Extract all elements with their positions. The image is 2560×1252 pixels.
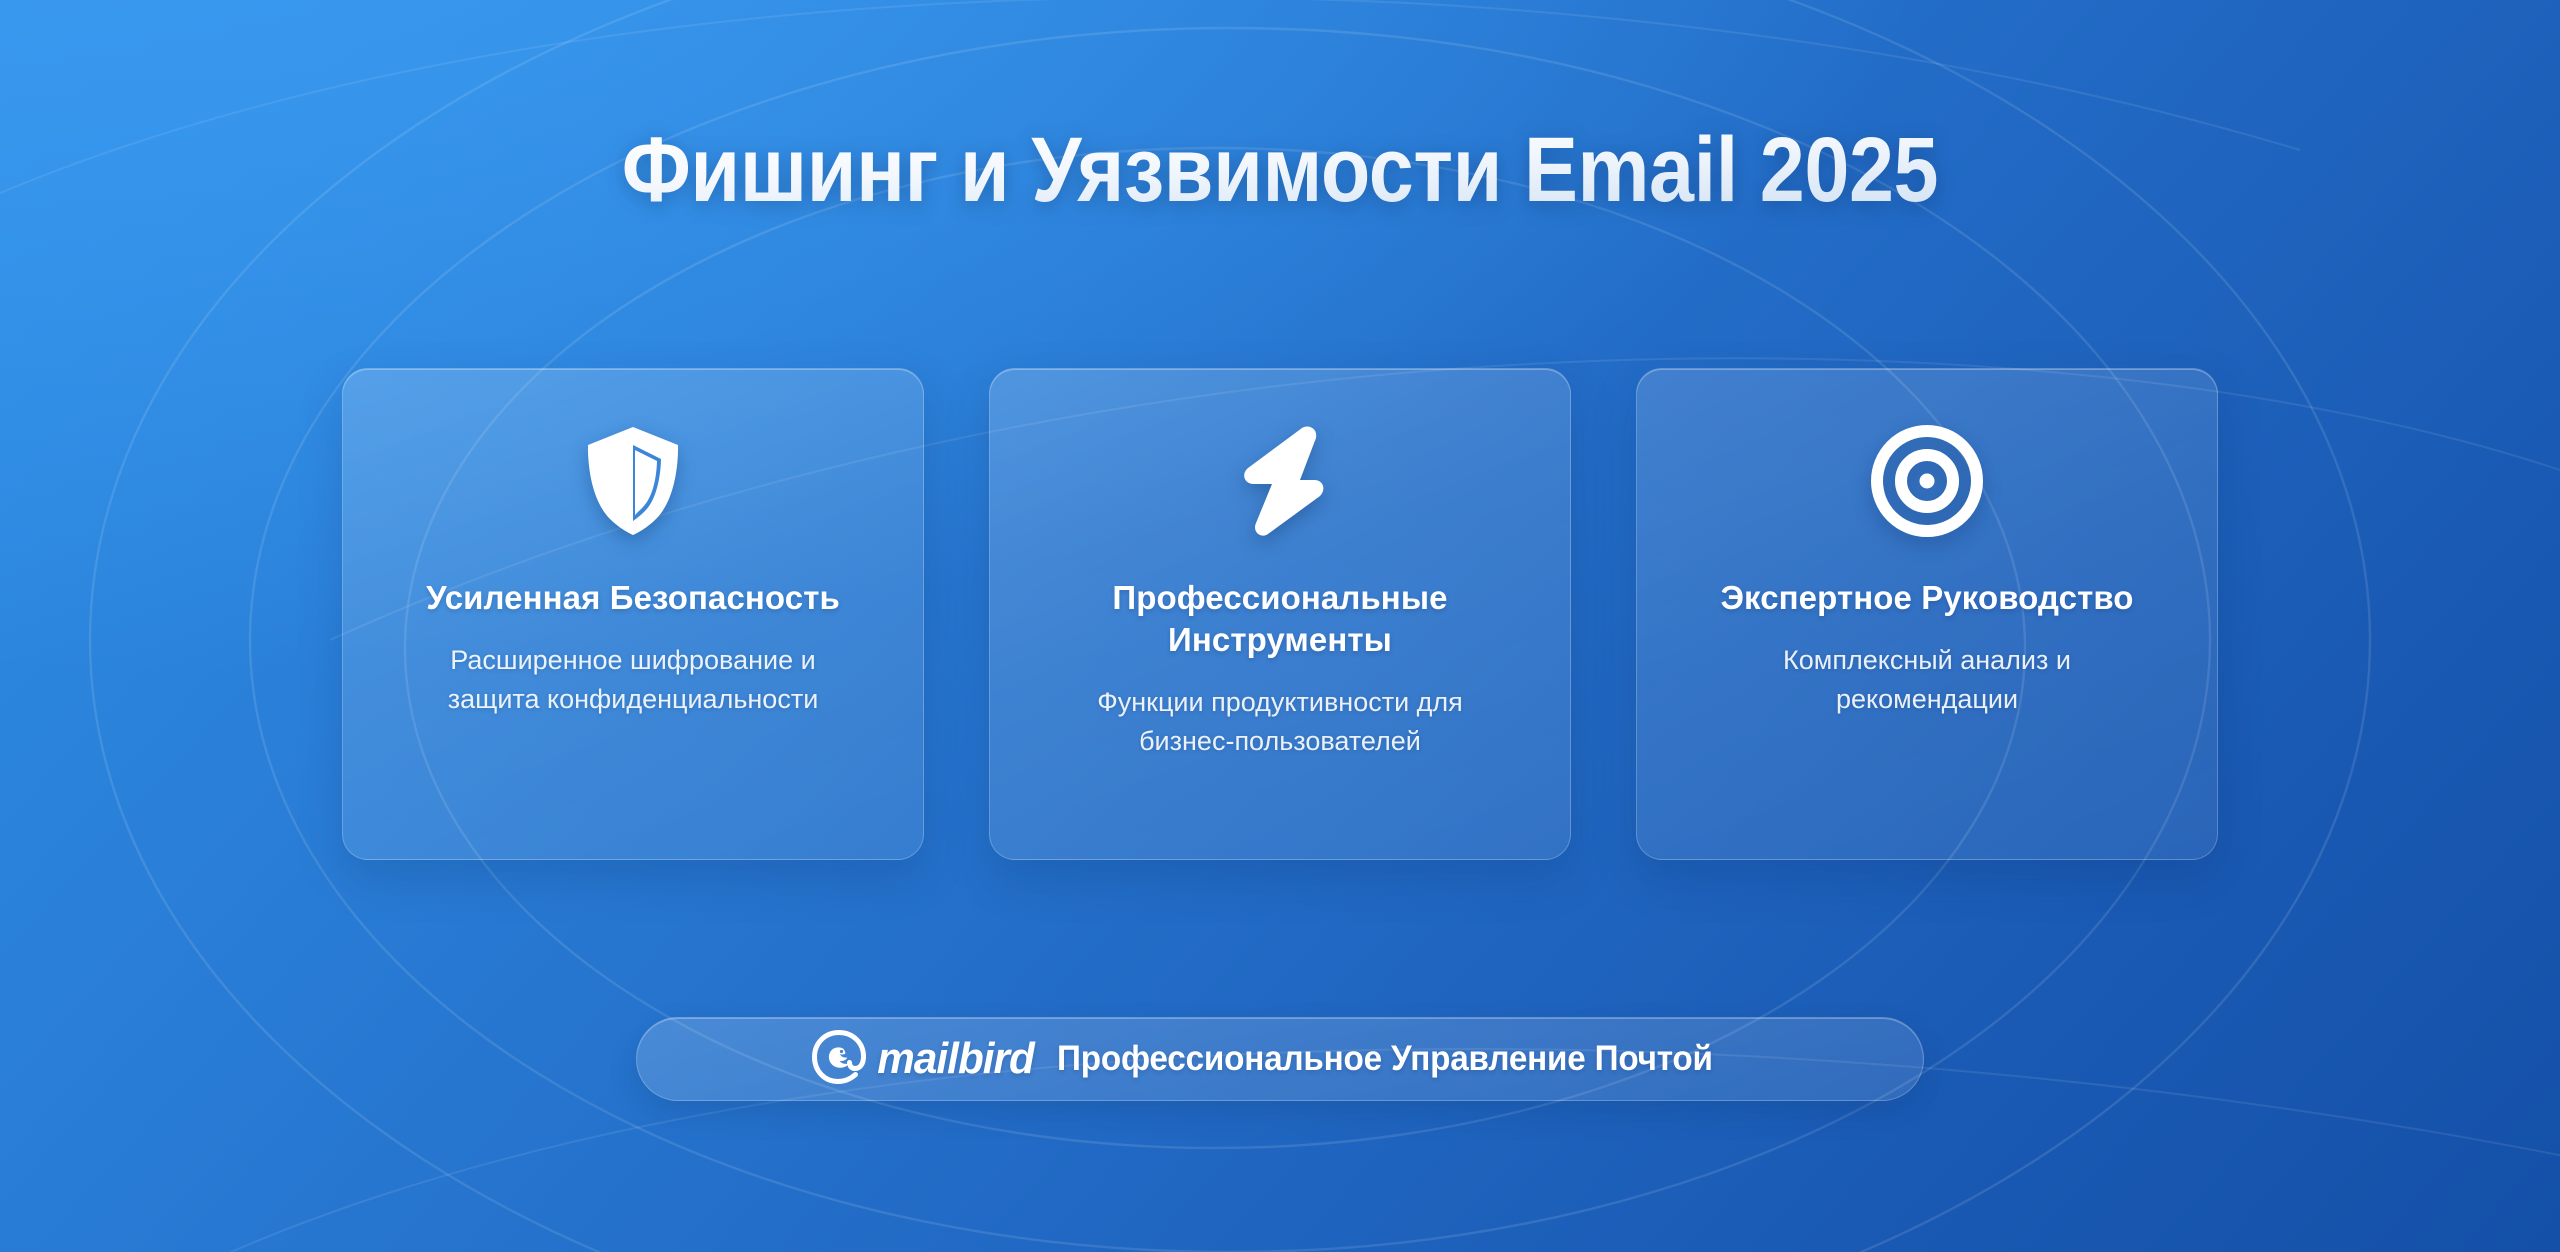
footer-brand-bar[interactable]: mailbird Профессиональное Управление Поч…	[636, 1017, 1924, 1101]
feature-card-expert-guidance[interactable]: Экспертное Руководство Комплексный анали…	[1636, 368, 2218, 860]
mailbird-at-bird-icon	[812, 1030, 866, 1089]
lightning-bolt-icon	[1232, 425, 1328, 537]
feature-card-title: Экспертное Руководство	[1720, 577, 2133, 619]
feature-card-title: Усиленная Безопасность	[426, 577, 840, 619]
feature-card-description: Комплексный анализ и рекомендации	[1712, 641, 2142, 718]
promo-banner: Фишинг и Уязвимости Email 2025 Усиленная…	[0, 0, 2560, 1252]
feature-card-description: Функции продуктивности для бизнес-пользо…	[1065, 683, 1495, 760]
feature-card-security[interactable]: Усиленная Безопасность Расширенное шифро…	[342, 368, 924, 860]
target-icon	[1871, 425, 1983, 537]
shield-icon	[581, 425, 685, 537]
feature-card-pro-tools[interactable]: Профессиональные Инструменты Функции про…	[989, 368, 1571, 860]
page-title-container: Фишинг и Уязвимости Email 2025	[0, 122, 2560, 220]
feature-card-description: Расширенное шифрование и защита конфиден…	[418, 641, 848, 718]
mailbird-wordmark: mailbird	[878, 1037, 1035, 1081]
feature-card-list: Усиленная Безопасность Расширенное шифро…	[342, 368, 2218, 860]
mailbird-logo[interactable]: mailbird	[812, 1030, 1037, 1089]
footer-tagline: Профессиональное Управление Почтой	[1057, 1039, 1713, 1079]
page-title: Фишинг и Уязвимости Email 2025	[622, 122, 1938, 220]
feature-card-title: Профессиональные Инструменты	[1024, 577, 1536, 661]
